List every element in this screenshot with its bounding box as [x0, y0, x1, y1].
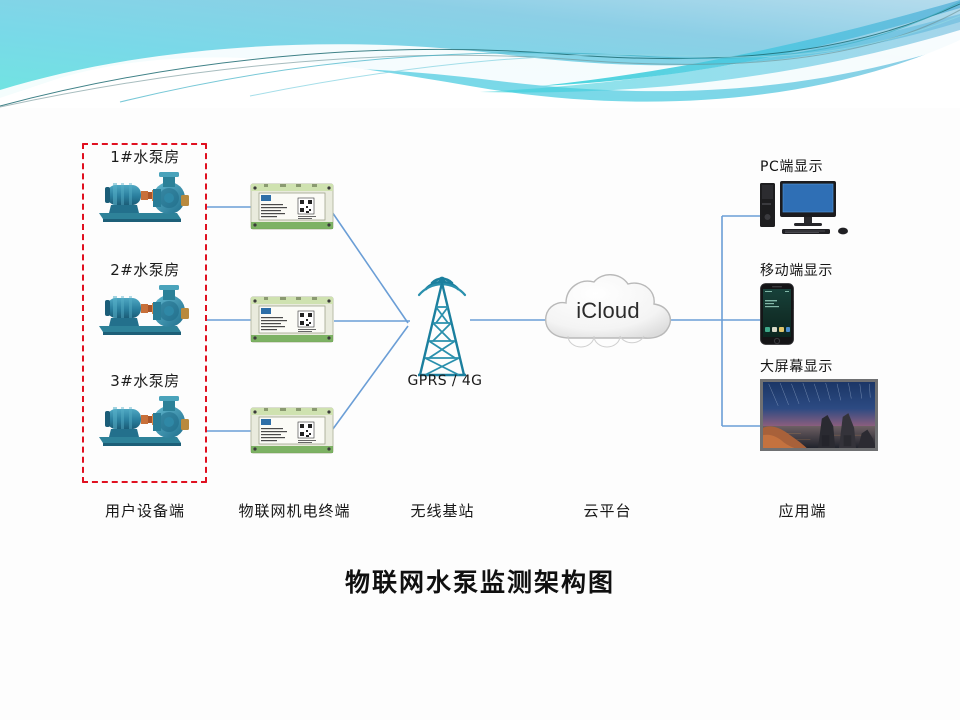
decorative-header-banner: [0, 0, 960, 108]
iot-terminal-module-icon: [250, 404, 334, 458]
pump-room-3-label: 3#水泵房: [85, 370, 205, 391]
endpoint-pc-label: PC端显示: [760, 156, 852, 176]
iot-terminal-2[interactable]: [250, 293, 334, 347]
gprs-4g-label: GPRS / 4G: [370, 373, 520, 389]
architecture-diagram: 1#水泵房: [0, 108, 960, 720]
endpoint-pc[interactable]: PC端显示: [760, 156, 852, 239]
pump-room-2[interactable]: 2#水泵房: [85, 259, 205, 338]
pump-room-1-label: 1#水泵房: [85, 146, 205, 167]
stage-label-iot-terminals: 物联网机电终端: [212, 500, 377, 521]
stage-label-base-station: 无线基站: [380, 500, 505, 521]
figure-title: 物联网水泵监测架构图: [0, 563, 960, 599]
iot-terminal-1[interactable]: [250, 180, 334, 234]
water-pump-icon: [93, 393, 197, 449]
smartphone-icon: [760, 283, 794, 345]
desktop-computer-icon: [760, 179, 852, 239]
pump-room-1[interactable]: 1#水泵房: [85, 146, 205, 225]
endpoint-large-screen[interactable]: 大屏幕显示: [760, 356, 878, 451]
iot-terminal-module-icon: [250, 180, 334, 234]
water-pump-icon: [93, 169, 197, 225]
iot-terminal-module-icon: [250, 293, 334, 347]
base-station-node[interactable]: [390, 253, 494, 383]
cloud-platform-name: iCloud: [538, 298, 678, 324]
cell-tower-icon: [390, 253, 494, 383]
endpoint-mobile[interactable]: 移动端显示: [760, 260, 833, 345]
pump-room-3[interactable]: 3#水泵房: [85, 370, 205, 449]
slide-canvas: 1#水泵房: [0, 0, 960, 720]
endpoint-mobile-label: 移动端显示: [760, 260, 833, 280]
water-pump-icon: [93, 282, 197, 338]
endpoint-large-screen-label: 大屏幕显示: [760, 356, 878, 376]
stage-label-user-devices: 用户设备端: [75, 500, 215, 521]
stage-label-cloud-platform: 云平台: [540, 500, 675, 521]
pump-room-2-label: 2#水泵房: [85, 259, 205, 280]
iot-terminal-3[interactable]: [250, 404, 334, 458]
stage-label-application: 应用端: [735, 500, 870, 521]
large-display-screen-icon: [760, 379, 878, 451]
